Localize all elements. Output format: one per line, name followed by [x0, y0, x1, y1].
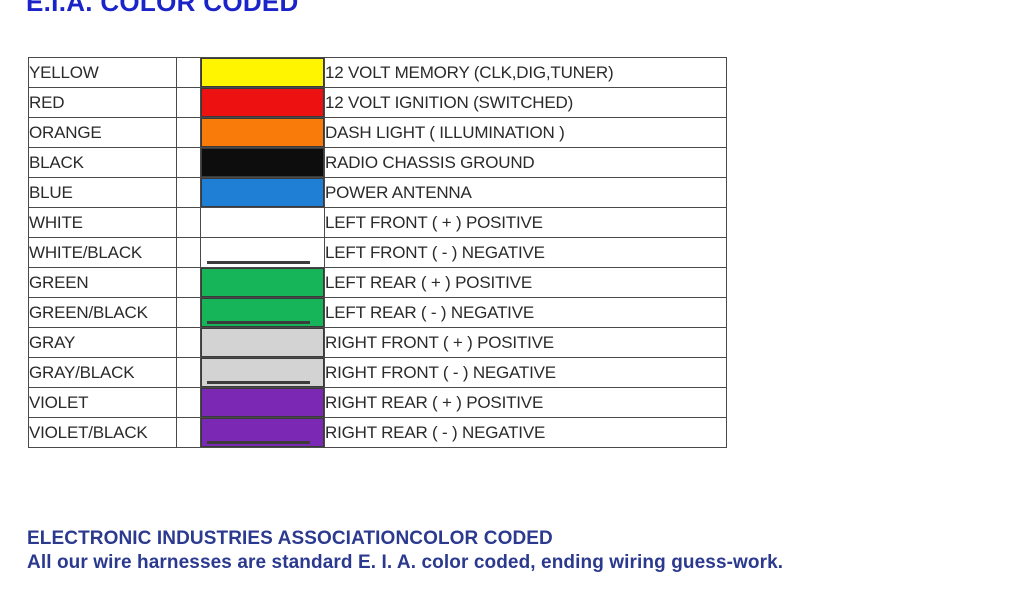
- wire-color-swatch-cell: [201, 88, 325, 118]
- wire-color-swatch: [201, 148, 324, 177]
- table-row: RED12 VOLT IGNITION (SWITCHED): [29, 88, 727, 118]
- table-row: YELLOW12 VOLT MEMORY (CLK,DIG,TUNER): [29, 58, 727, 88]
- table-row: GRAYRIGHT FRONT ( + ) POSITIVE: [29, 328, 727, 358]
- wire-color-swatch: [201, 388, 324, 417]
- wire-color-swatch: [201, 58, 324, 87]
- spacer-cell: [177, 238, 201, 268]
- page-title: E.I.A. COLOR CODED: [26, 0, 299, 18]
- table-row: WHITELEFT FRONT ( + ) POSITIVE: [29, 208, 727, 238]
- wire-color-swatch: [201, 268, 324, 297]
- spacer-cell: [177, 178, 201, 208]
- wire-function-description: LEFT FRONT ( - ) NEGATIVE: [325, 238, 727, 268]
- wire-color-swatch-cell: [201, 58, 325, 88]
- footer: ELECTRONIC INDUSTRIES ASSOCIATIONCOLOR C…: [27, 528, 783, 575]
- wire-color-swatch: [201, 178, 324, 207]
- black-tracer-stripe: [207, 381, 310, 384]
- table-row: BLUEPOWER ANTENNA: [29, 178, 727, 208]
- wire-color-swatch-cell: [201, 358, 325, 388]
- wire-color-swatch-cell: [201, 298, 325, 328]
- wire-color-name: VIOLET: [29, 388, 177, 418]
- wire-function-description: DASH LIGHT ( ILLUMINATION ): [325, 118, 727, 148]
- wire-color-swatch-cell: [201, 328, 325, 358]
- table-row: GREEN/BLACKLEFT REAR ( - ) NEGATIVE: [29, 298, 727, 328]
- wire-color-name: GREEN/BLACK: [29, 298, 177, 328]
- spacer-cell: [177, 118, 201, 148]
- spacer-cell: [177, 148, 201, 178]
- wire-color-name: BLACK: [29, 148, 177, 178]
- table-body: YELLOW12 VOLT MEMORY (CLK,DIG,TUNER)RED1…: [29, 58, 727, 448]
- table-row: VIOLET/BLACKRIGHT REAR ( - ) NEGATIVE: [29, 418, 727, 448]
- table-row: GRAY/BLACKRIGHT FRONT ( - ) NEGATIVE: [29, 358, 727, 388]
- black-tracer-stripe: [207, 321, 310, 324]
- wire-function-description: 12 VOLT IGNITION (SWITCHED): [325, 88, 727, 118]
- eia-color-code-table: YELLOW12 VOLT MEMORY (CLK,DIG,TUNER)RED1…: [28, 57, 727, 448]
- wire-color-name: BLUE: [29, 178, 177, 208]
- wire-function-description: RIGHT REAR ( - ) NEGATIVE: [325, 418, 727, 448]
- wire-function-description: RIGHT FRONT ( - ) NEGATIVE: [325, 358, 727, 388]
- table-row: ORANGEDASH LIGHT ( ILLUMINATION ): [29, 118, 727, 148]
- wire-color-name: VIOLET/BLACK: [29, 418, 177, 448]
- footer-association-line: ELECTRONIC INDUSTRIES ASSOCIATIONCOLOR C…: [27, 528, 783, 550]
- wire-function-description: POWER ANTENNA: [325, 178, 727, 208]
- wire-color-swatch-cell: [201, 178, 325, 208]
- table-row: GREENLEFT REAR ( + ) POSITIVE: [29, 268, 727, 298]
- spacer-cell: [177, 268, 201, 298]
- black-tracer-stripe: [207, 441, 310, 444]
- wire-function-description: RIGHT FRONT ( + ) POSITIVE: [325, 328, 727, 358]
- footer-description-line: All our wire harnesses are standard E. I…: [27, 552, 783, 574]
- wire-color-swatch: [201, 328, 324, 357]
- wire-color-name: GRAY: [29, 328, 177, 358]
- table-row: WHITE/BLACKLEFT FRONT ( - ) NEGATIVE: [29, 238, 727, 268]
- wire-color-name: WHITE/BLACK: [29, 238, 177, 268]
- wire-color-swatch-cell: [201, 118, 325, 148]
- table-row: BLACKRADIO CHASSIS GROUND: [29, 148, 727, 178]
- wire-color-swatch-cell: [201, 208, 325, 238]
- spacer-cell: [177, 208, 201, 238]
- spacer-cell: [177, 58, 201, 88]
- table-row: VIOLETRIGHT REAR ( + ) POSITIVE: [29, 388, 727, 418]
- wire-color-swatch-cell: [201, 148, 325, 178]
- wire-function-description: LEFT REAR ( + ) POSITIVE: [325, 268, 727, 298]
- wire-color-swatch: [201, 118, 324, 147]
- wire-color-name: RED: [29, 88, 177, 118]
- wire-color-swatch-cell: [201, 238, 325, 268]
- spacer-cell: [177, 328, 201, 358]
- spacer-cell: [177, 418, 201, 448]
- black-tracer-stripe: [207, 261, 310, 264]
- wire-color-swatch: [201, 88, 324, 117]
- wire-function-description: LEFT REAR ( - ) NEGATIVE: [325, 298, 727, 328]
- spacer-cell: [177, 298, 201, 328]
- wire-function-description: RIGHT REAR ( + ) POSITIVE: [325, 388, 727, 418]
- wire-color-name: WHITE: [29, 208, 177, 238]
- wire-color-swatch-cell: [201, 268, 325, 298]
- wire-color-name: YELLOW: [29, 58, 177, 88]
- wire-function-description: 12 VOLT MEMORY (CLK,DIG,TUNER): [325, 58, 727, 88]
- spacer-cell: [177, 88, 201, 118]
- wire-color-name: ORANGE: [29, 118, 177, 148]
- wire-color-name: GREEN: [29, 268, 177, 298]
- wire-color-swatch-cell: [201, 388, 325, 418]
- wire-color-name: GRAY/BLACK: [29, 358, 177, 388]
- wire-color-swatch: [201, 208, 324, 237]
- spacer-cell: [177, 388, 201, 418]
- spacer-cell: [177, 358, 201, 388]
- wire-function-description: RADIO CHASSIS GROUND: [325, 148, 727, 178]
- wire-function-description: LEFT FRONT ( + ) POSITIVE: [325, 208, 727, 238]
- wiring-color-chart-page: E.I.A. COLOR CODED YELLOW12 VOLT MEMORY …: [0, 0, 1024, 600]
- wire-color-swatch-cell: [201, 418, 325, 448]
